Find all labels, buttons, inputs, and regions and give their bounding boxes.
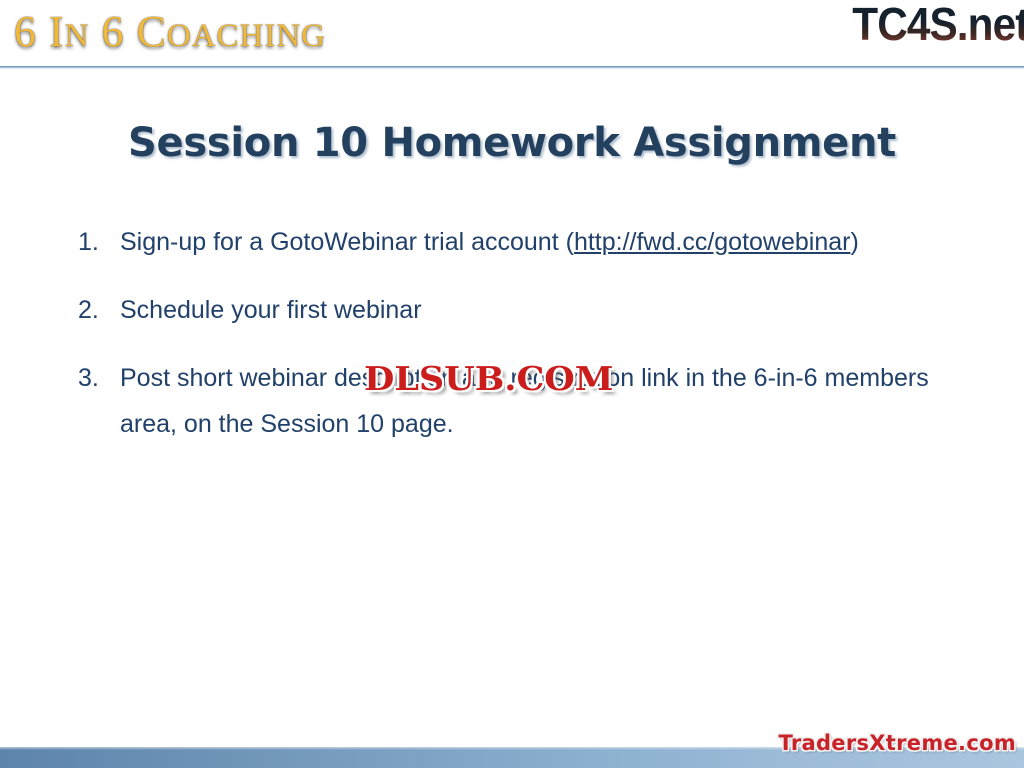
slide: 6 IN 6 COACHING TC4S.net Session 10 Home… <box>0 0 1024 768</box>
brand-logo-part: N <box>65 18 90 54</box>
list-item: 2.Schedule your first webinar <box>78 287 978 333</box>
list-item-number: 1. <box>78 219 120 265</box>
header-banner: 6 IN 6 COACHING TC4S.net <box>0 0 1024 66</box>
list-item-number: 2. <box>78 287 120 333</box>
brand-logo-part: OACHING <box>167 18 326 54</box>
homework-list: 1.Sign-up for a GotoWebinar trial accoun… <box>78 219 978 447</box>
brand-logo-part: 6 <box>102 7 125 56</box>
brand-logo-part: I <box>49 7 65 56</box>
tradersxtreme-watermark: TradersXtreme.com <box>779 730 1016 756</box>
list-item-text-trailing: ) <box>850 228 858 256</box>
dlsub-watermark: DLSUB.COM <box>364 360 613 398</box>
tc4s-site-watermark: TC4S.net <box>852 0 1024 50</box>
list-item-text-leading: Schedule your first webinar <box>120 296 422 324</box>
list-item: 1.Sign-up for a GotoWebinar trial accoun… <box>78 219 978 265</box>
brand-logo-part: 6 <box>14 7 37 56</box>
header-divider <box>0 66 1024 69</box>
list-item-text: Sign-up for a GotoWebinar trial account … <box>120 219 978 265</box>
list-item-text: Schedule your first webinar <box>120 287 978 333</box>
brand-logo: 6 IN 6 COACHING <box>14 6 326 62</box>
list-item-link[interactable]: http://fwd.cc/gotowebinar <box>574 228 851 256</box>
list-item-number: 3. <box>78 355 120 401</box>
page-title: Session 10 Homework Assignment <box>0 118 1024 168</box>
list-item-text-leading: Sign-up for a GotoWebinar trial account … <box>120 228 574 256</box>
brand-logo-part: C <box>137 7 167 56</box>
